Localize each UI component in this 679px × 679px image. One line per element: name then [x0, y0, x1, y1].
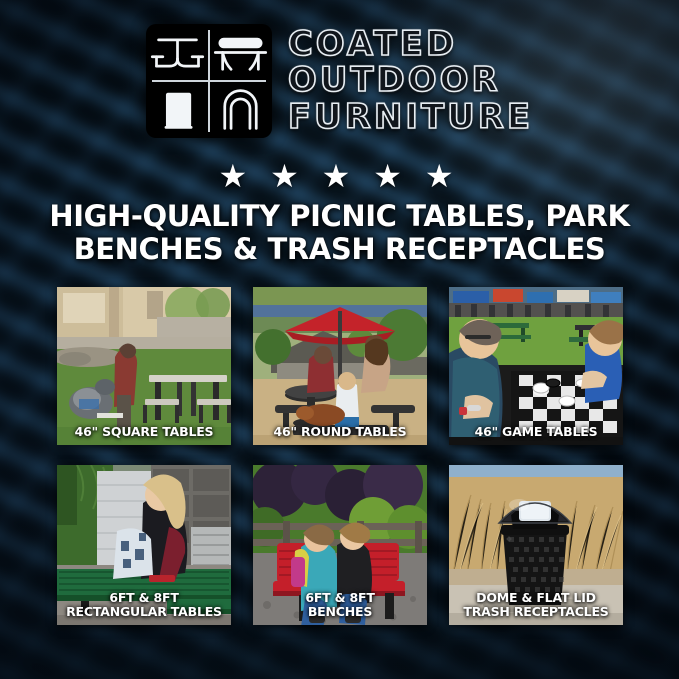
- product-caption-line-2: RECTANGULAR TABLES: [60, 605, 228, 619]
- park-bench-icon: [209, 24, 272, 81]
- product-caption: 46" ROUND TABLES: [253, 425, 427, 439]
- headline-line-2: BENCHES & TRASH RECEPTACLES: [30, 233, 649, 266]
- product-image-game-tables: [449, 287, 623, 445]
- brand-name-line-3: FURNITURE: [288, 100, 533, 135]
- product-tile-rectangular-tables[interactable]: 6FT & 8FT RECTANGULAR TABLES: [57, 465, 231, 625]
- product-tile-benches[interactable]: 6FT & 8FT BENCHES: [253, 465, 427, 625]
- brand-name-line-2: OUTDOOR: [288, 63, 533, 98]
- product-caption-line-2: BENCHES: [256, 605, 424, 619]
- product-caption-line-2: TRASH RECEPTACLES: [452, 605, 620, 619]
- product-caption-line-1: DOME & FLAT LID: [476, 590, 596, 605]
- product-tile-trash-receptacles[interactable]: DOME & FLAT LID TRASH RECEPTACLES: [449, 465, 623, 625]
- product-caption: DOME & FLAT LID TRASH RECEPTACLES: [449, 591, 623, 619]
- product-image-square-tables: [57, 287, 231, 445]
- logo-icon-grid: [146, 24, 272, 138]
- product-caption-line-1: 46" GAME TABLES: [475, 424, 598, 439]
- product-tile-game-tables[interactable]: 46" GAME TABLES: [449, 287, 623, 445]
- brand-wordmark: COATED OUTDOOR FURNITURE: [288, 27, 533, 135]
- product-caption: 6FT & 8FT RECTANGULAR TABLES: [57, 591, 231, 619]
- logo-divider-horizontal: [152, 80, 266, 82]
- product-tile-round-tables[interactable]: 46" ROUND TABLES: [253, 287, 427, 445]
- product-caption: 46" SQUARE TABLES: [57, 425, 231, 439]
- poster-canvas: COATED OUTDOOR FURNITURE ★ ★ ★ ★ ★ HIGH-…: [0, 0, 679, 679]
- brand-name-line-1: COATED: [288, 27, 533, 62]
- product-tile-square-tables[interactable]: 46" SQUARE TABLES: [57, 287, 231, 445]
- picnic-table-icon: [146, 24, 209, 81]
- product-caption: 6FT & 8FT BENCHES: [253, 591, 427, 619]
- brand-logo: COATED OUTDOOR FURNITURE: [0, 24, 679, 138]
- product-caption: 46" GAME TABLES: [449, 425, 623, 439]
- product-image-round-tables: [253, 287, 427, 445]
- trash-receptacle-icon: [146, 81, 209, 138]
- product-caption-line-1: 46" ROUND TABLES: [274, 424, 407, 439]
- star-rating: ★ ★ ★ ★ ★: [0, 160, 679, 192]
- product-caption-line-1: 6FT & 8FT: [109, 590, 178, 605]
- bike-rack-arch-icon: [209, 81, 272, 138]
- product-grid: 46" SQUARE TABLES: [57, 287, 622, 625]
- product-caption-line-1: 6FT & 8FT: [305, 590, 374, 605]
- headline-line-1: HIGH-QUALITY PICNIC TABLES, PARK: [49, 199, 629, 233]
- page-title: HIGH-QUALITY PICNIC TABLES, PARK BENCHES…: [30, 200, 649, 266]
- product-caption-line-1: 46" SQUARE TABLES: [75, 424, 214, 439]
